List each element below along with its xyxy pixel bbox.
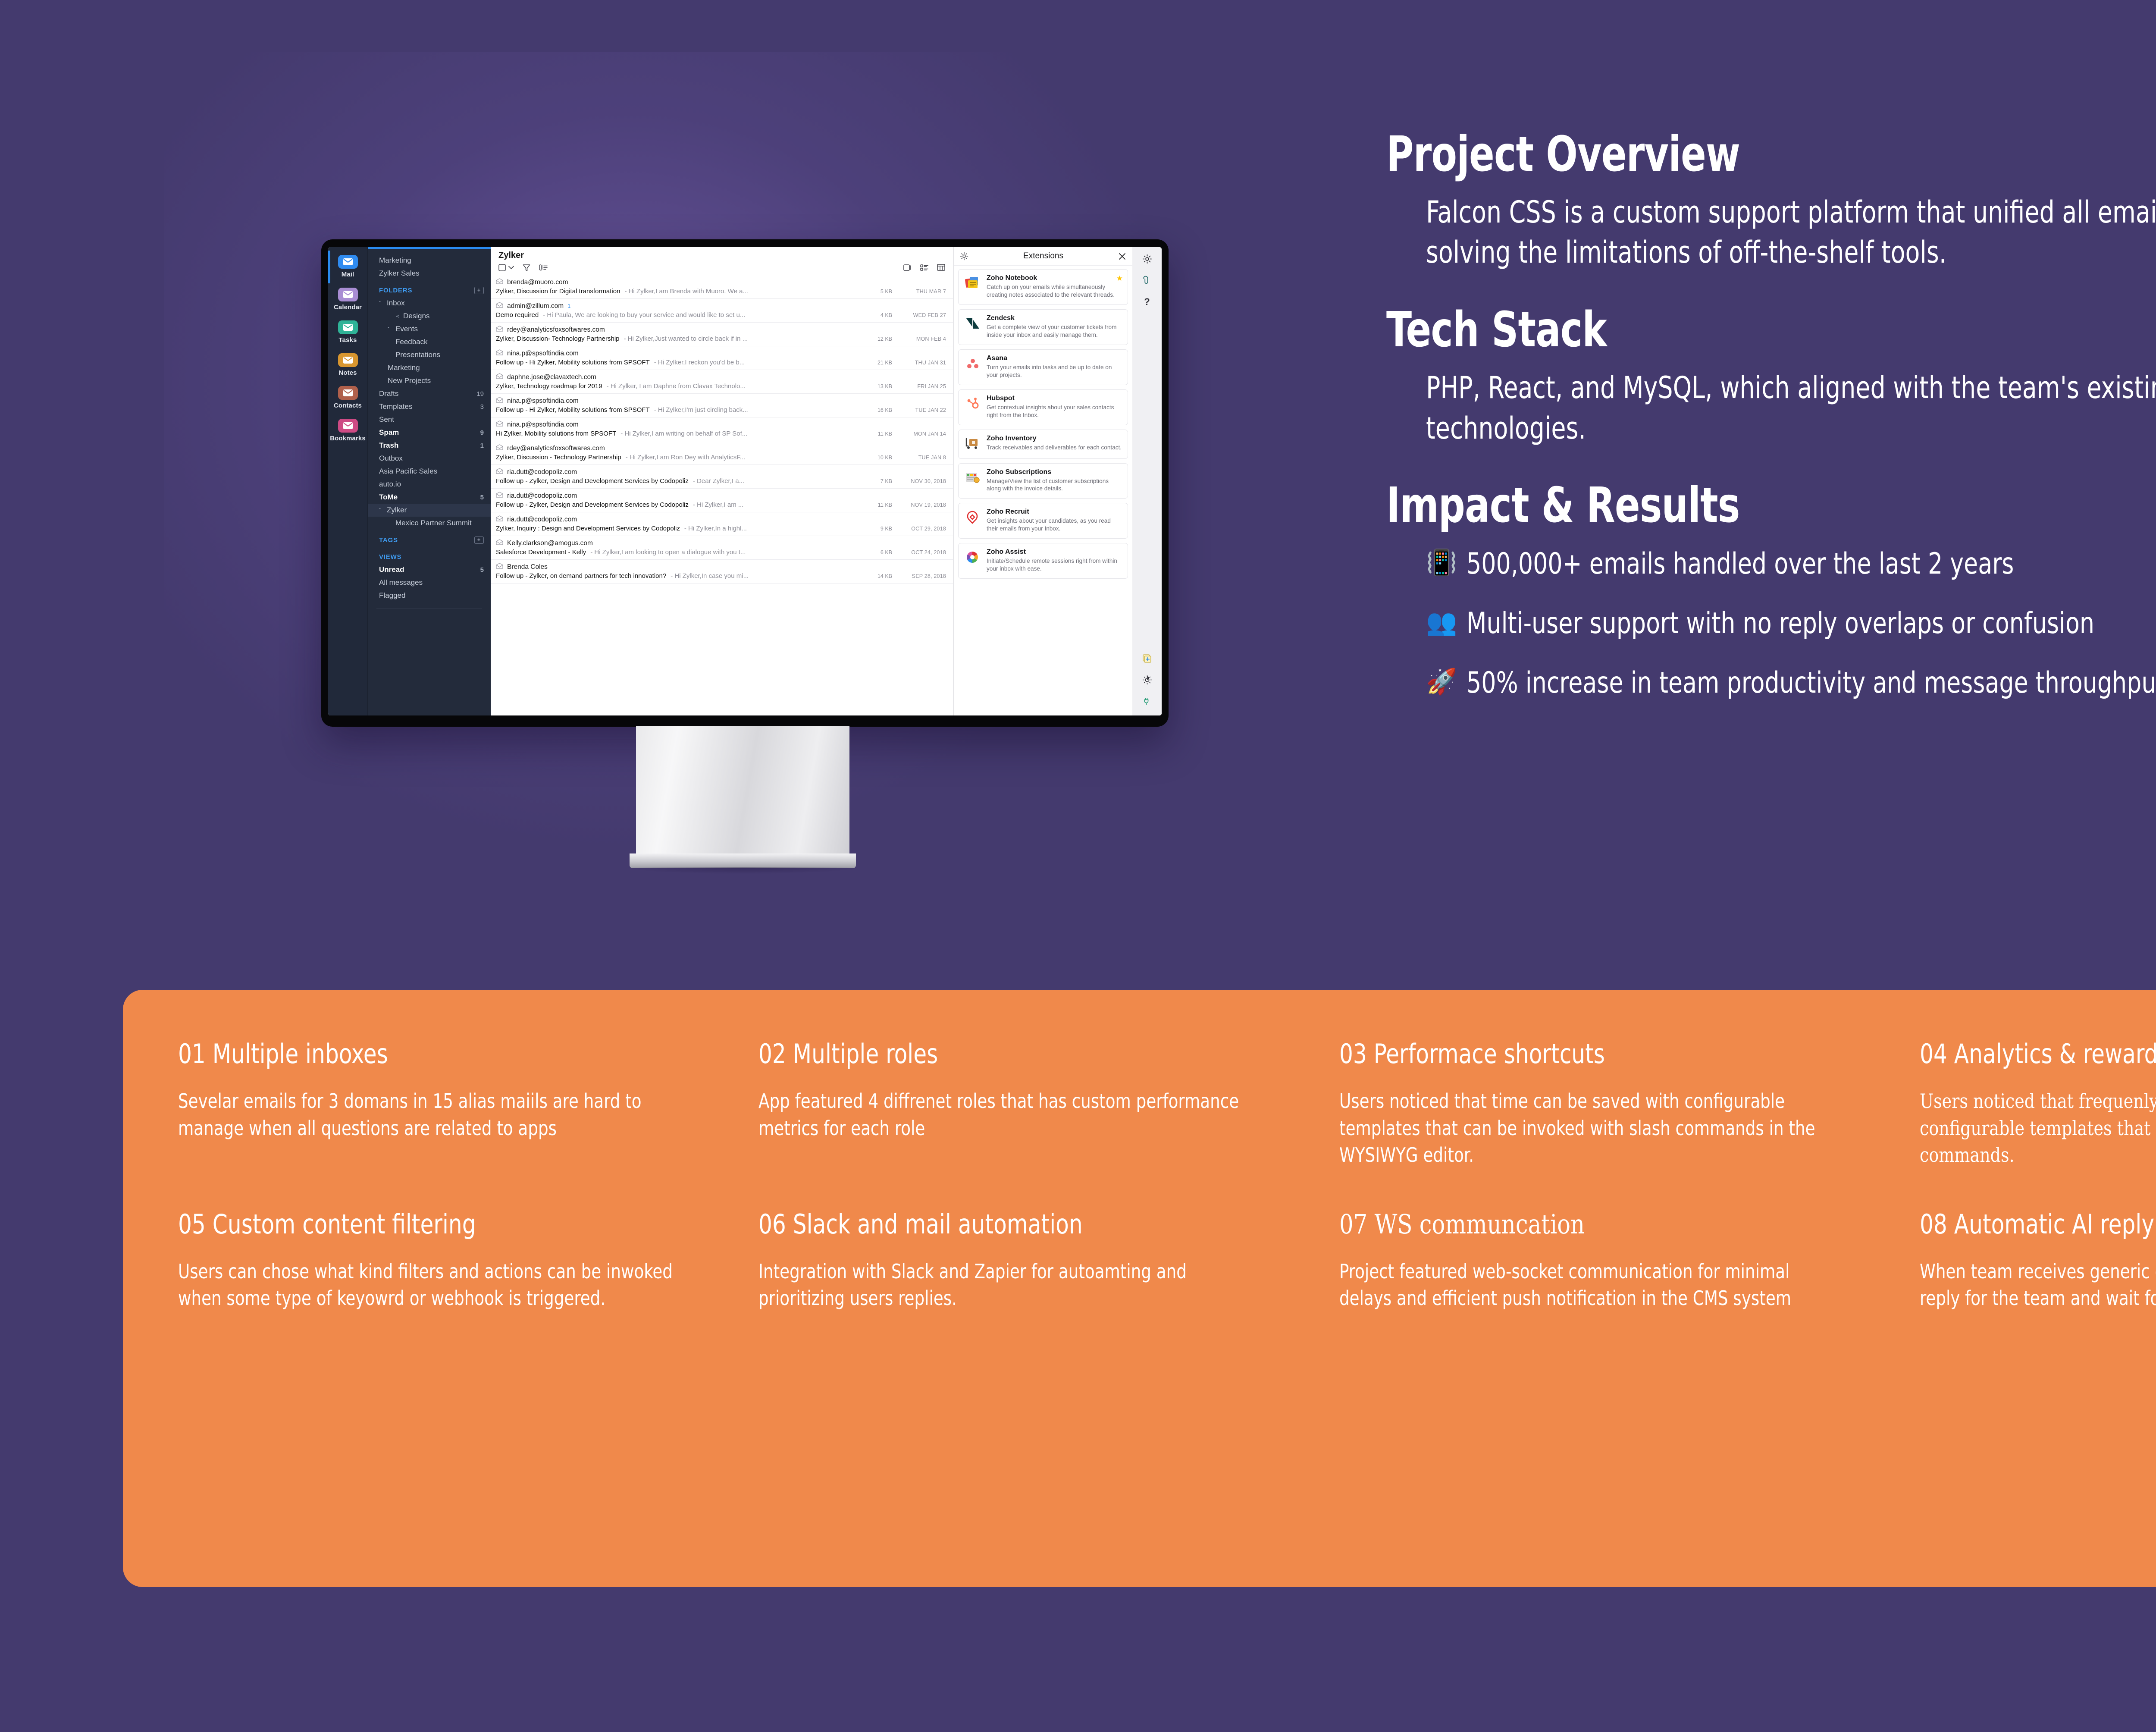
folder-item-count: 19 [476, 390, 484, 398]
message-preview: - Hi Zylker, I am Daphne from Clavax Tec… [607, 383, 863, 390]
extension-name: Zoho Inventory [987, 435, 1122, 442]
message-preview: - Hi Zylker,I am Brenda with Muoro. We a… [624, 288, 863, 295]
impact-bullet: 📳 500,000+ emails handled over the last … [1426, 548, 2156, 580]
folder-item-new-projects[interactable]: New Projects [368, 374, 491, 387]
envelope-icon [496, 468, 503, 476]
extension-card[interactable]: Zoho Recruit Get insights about your can… [958, 503, 1128, 539]
message-date: NOV 30, 2018 [896, 478, 946, 484]
folder-item-marketing[interactable]: Marketing [368, 254, 491, 267]
brightness-icon[interactable] [1142, 675, 1152, 685]
chevron-down-icon[interactable] [508, 266, 514, 270]
extension-description: Get contextual insights about your sales… [987, 404, 1122, 419]
message-preview: - Hi Zylker,I am looking to open a dialo… [590, 549, 863, 556]
tech-stack-heading: Tech Stack [1386, 305, 2156, 356]
message-row[interactable]: brenda@muoro.com Zylker, Discussion for … [491, 275, 953, 299]
feature-body: Users can chose what kind filters and ac… [178, 1258, 674, 1312]
impact-bullet: 🚀 50% increase in team productivity and … [1426, 667, 2156, 700]
extension-description: Initiate/Schedule remote sessions right … [987, 557, 1122, 573]
rail-item-label: Contacts [328, 402, 367, 409]
feature-title: 01 Multiple inboxes [178, 1040, 674, 1068]
mail-icon [338, 255, 358, 269]
tasks-icon [338, 320, 358, 334]
message-size: 6 KB [867, 549, 892, 555]
rail-item-label: Bookmarks [328, 435, 367, 442]
message-row[interactable]: ria.dutt@codopoliz.com Zylker, Inquiry :… [491, 512, 953, 536]
extension-card[interactable]: Zoho Inventory Track receivables and del… [958, 430, 1128, 459]
feature-body: App featured 4 diffrenet roles that has … [758, 1088, 1254, 1142]
message-subject: Zylker, Technology roadmap for 2019 [496, 383, 602, 390]
message-date: TUE JAN 22 [896, 407, 946, 413]
tags-header-label: TAGS [379, 537, 398, 544]
rail-item-label: Tasks [328, 336, 367, 344]
rail-item-mail[interactable]: Mail [328, 251, 367, 283]
message-date: OCT 24, 2018 [896, 549, 946, 555]
feature-card-04: 04 Analytics & reward system Users notic… [1920, 1040, 2156, 1169]
envelope-icon [496, 563, 503, 571]
feature-body: Project featured web-socket communicatio… [1339, 1258, 1835, 1312]
notes-icon [338, 353, 358, 367]
message-size: 14 KB [867, 573, 892, 579]
message-subject: Follow up - Zylker, Design and Developme… [496, 501, 689, 508]
monitor-bezel: Mail Calendar Tasks Notes Contacts Bookm… [321, 239, 1169, 727]
gear-icon[interactable] [960, 252, 968, 260]
zoho-inventory-icon [964, 435, 982, 453]
folder-item-count: 9 [480, 429, 484, 436]
rail-item-label: Mail [328, 271, 367, 278]
section-tech-stack: Tech Stack PHP, React, and MySQL, which … [1386, 305, 2156, 449]
feature-card-02: 02 Multiple roles App featured 4 diffren… [758, 1040, 1315, 1169]
folder-item-auto-io[interactable]: auto.io [368, 478, 491, 491]
message-subject: Hi Zylker, Mobility solutions from SPSOF… [496, 430, 616, 437]
message-date: THU MAR 7 [896, 289, 946, 295]
zoho-subscriptions-icon [964, 468, 982, 486]
envelope-icon [496, 420, 503, 429]
extensions-list[interactable]: Zoho Notebook Catch up on your emails wh… [954, 266, 1132, 715]
impact-bullet-text: Multi-user support with no reply overlap… [1467, 607, 2094, 640]
envelope-icon [496, 444, 503, 452]
rocket-icon: 🚀 [1426, 667, 1457, 697]
plugin-icon[interactable] [1142, 696, 1152, 706]
extension-description: Turn your emails into tasks and be up to… [987, 364, 1122, 379]
message-sender: brenda@muoro.com [507, 279, 568, 286]
message-subject: Zylker, Discussion for Digital transform… [496, 288, 620, 295]
envelope-icon [496, 539, 503, 547]
message-row[interactable]: Brenda Coles Follow up - Zylker, on dema… [491, 560, 953, 584]
impact-bullet-text: 500,000+ emails handled over the last 2 … [1467, 548, 2014, 580]
message-subject: Zylker, Discussion - Technology Partners… [496, 454, 621, 461]
folder-item-label: Events [395, 325, 418, 333]
extension-name: Zoho Assist [987, 548, 1122, 556]
star-icon[interactable]: ★ [1116, 274, 1123, 283]
folder-item-label: Sent [379, 415, 394, 424]
email-stats-icon: 📳 [1426, 548, 1457, 578]
feature-title: 04 Analytics & reward system [1920, 1040, 2156, 1068]
message-list-pane: Zylker [491, 247, 953, 715]
multi-user-icon: 👥 [1426, 607, 1457, 637]
message-row[interactable]: Kelly.clarkson@amogus.com Salesforce Dev… [491, 536, 953, 560]
add-note-icon[interactable] [1142, 654, 1152, 664]
rail-item-tasks[interactable]: Tasks [328, 316, 367, 349]
folder-item-label: Drafts [379, 389, 398, 398]
message-list-title: Zylker [498, 251, 945, 260]
message-preview: - Hi Zylker,I am writing on behalf of SP… [620, 430, 863, 437]
rail-item-notes[interactable]: Notes [328, 349, 367, 382]
monitor: Mail Calendar Tasks Notes Contacts Bookm… [321, 239, 1169, 727]
feature-body: Sevelar emails for 3 domans in 15 alias … [178, 1088, 674, 1142]
folder-item-count: 3 [480, 403, 484, 411]
rail-item-contacts[interactable]: Contacts [328, 382, 367, 414]
impact-bullet: 👥 Multi-user support with no reply overl… [1426, 607, 2156, 640]
zoho-assist-icon [964, 548, 982, 566]
feature-title: 08 Automatic AI reply [1920, 1210, 2156, 1238]
message-date: TUE JAN 8 [896, 455, 946, 461]
extension-name: Hubspot [987, 395, 1122, 402]
chevron-down-icon: ≺ [395, 313, 401, 319]
feature-body: When team receives generic question AI c… [1920, 1258, 2156, 1312]
extension-description: Manage/View the list of customer subscri… [987, 477, 1122, 493]
message-sender: ria.dutt@codopoliz.com [507, 492, 577, 500]
extension-name: Zoho Recruit [987, 508, 1122, 516]
folder-item-label: Templates [379, 402, 412, 411]
message-size: 11 KB [867, 431, 892, 437]
monitor-stand-neck [636, 726, 849, 855]
folder-item-spam[interactable]: Spam9 [368, 426, 491, 439]
envelope-icon [496, 373, 503, 381]
message-subject: Demo required [496, 311, 539, 319]
folder-item-events[interactable]: ˇEvents [368, 323, 491, 336]
message-preview: - Hi Paula, We are looking to buy your s… [543, 311, 863, 319]
message-sender: nina.p@spsoftindia.com [507, 350, 579, 358]
feature-body: Integration with Slack and Zapier for au… [758, 1258, 1254, 1312]
impact-bullet-list: 📳 500,000+ emails handled over the last … [1426, 548, 2156, 700]
folder-item-label: Designs [403, 312, 429, 320]
help-icon[interactable]: ? [1144, 296, 1150, 307]
folder-item-label: Spam [379, 428, 399, 437]
paperclip-icon[interactable] [1142, 275, 1152, 285]
tech-stack-body: PHP, React, and MySQL, which aligned wit… [1426, 368, 2156, 449]
message-list-header: Zylker [491, 247, 953, 275]
zoho-recruit-icon [964, 508, 982, 526]
extension-name: Zoho Subscriptions [987, 468, 1122, 476]
feature-card-06: 06 Slack and mail automation Integration… [758, 1210, 1315, 1312]
rail-item-label: Notes [328, 369, 367, 377]
message-size: 12 KB [867, 336, 892, 342]
folder-item-trash[interactable]: Trash1 [368, 439, 491, 452]
message-sender: nina.p@spsoftindia.com [507, 421, 579, 429]
folder-item-designs[interactable]: ≺Designs [368, 310, 491, 323]
feature-title: 02 Multiple roles [758, 1040, 1254, 1068]
chevron-down-icon: ˇ [379, 507, 384, 513]
message-size: 21 KB [867, 360, 892, 366]
message-sender: rdey@analyticsfoxsoftwares.com [507, 445, 605, 452]
message-sender: daphne.jose@clavaxtech.com [507, 373, 596, 381]
message-date: THU JAN 31 [896, 360, 946, 366]
extension-description: Get a complete view of your customer tic… [987, 323, 1122, 339]
impact-results-heading: Impact & Results [1386, 480, 2156, 531]
folder-item-drafts[interactable]: Drafts19 [368, 387, 491, 400]
feature-title: 06 Slack and mail automation [758, 1210, 1254, 1238]
rail-item-bookmarks[interactable]: Bookmarks [328, 414, 367, 447]
extensions-rail[interactable]: ? [1132, 247, 1162, 715]
message-date: MON JAN 14 [896, 431, 946, 437]
message-size: 16 KB [867, 407, 892, 413]
select-all-checkbox[interactable] [498, 264, 506, 271]
rail-item-label: Calendar [328, 304, 367, 311]
folder-item-label: All messages [379, 578, 423, 587]
chevron-down-icon: ˇ [379, 300, 384, 306]
extensions-title: Extensions [968, 251, 1118, 261]
message-date: SEP 28, 2018 [896, 573, 946, 579]
folder-item-label: Zylker [387, 506, 407, 515]
folder-item-zylker-sales[interactable]: Zylker Sales [368, 267, 491, 280]
tags-section-header: TAGS + [368, 530, 491, 546]
message-row[interactable]: ria.dutt@codopoliz.com Follow up - Zylke… [491, 489, 953, 512]
extension-card[interactable]: Zoho Subscriptions Manage/View the list … [958, 463, 1128, 499]
feature-card-07: 07 WS communcation Project featured web-… [1339, 1210, 1896, 1312]
folder-item-unread[interactable]: Unread5 [368, 563, 491, 576]
message-preview: - Dear Zylker,I a... [693, 477, 863, 485]
extensions-panel: Extensions Zoho Notebook Catch up on you… [953, 247, 1132, 715]
calendar-icon [338, 288, 358, 301]
add-folder-button[interactable]: + [474, 287, 484, 294]
folder-item-flagged[interactable]: Flagged [368, 589, 491, 602]
feature-card-08: 08 Automatic AI reply When team receives… [1920, 1210, 2156, 1312]
message-rows[interactable]: brenda@muoro.com Zylker, Discussion for … [491, 275, 953, 715]
message-preview: - Hi Zylker,I reckon you'd be b... [654, 359, 863, 366]
folder-item-inbox[interactable]: ˇInbox [368, 297, 491, 310]
bookmarks-icon [338, 419, 358, 433]
folder-item-label: Marketing [379, 256, 411, 265]
folder-item-marketing[interactable]: Marketing [368, 361, 491, 374]
message-subject: Zylker, Discussion- Technology Partnersh… [496, 335, 620, 342]
message-sender: rdey@analyticsfoxsoftwares.com [507, 326, 605, 334]
folders-pane[interactable]: MarketingZylker Sales FOLDERS + ˇInbox≺D… [368, 247, 491, 715]
chevron-down-icon: ˇ [388, 326, 393, 332]
message-subject: Follow up - Hi Zylker, Mobility solution… [496, 406, 650, 414]
feature-body: Users noticed that time can be saved wit… [1339, 1088, 1835, 1169]
folder-item-count: 5 [480, 566, 484, 574]
folder-item-feedback[interactable]: Feedback [368, 336, 491, 348]
feature-card-01: 01 Multiple inboxes Sevelar emails for 3… [178, 1040, 734, 1169]
asana-icon [964, 355, 982, 373]
message-size: 10 KB [867, 455, 892, 461]
message-subject: Zylker, Inquiry : Design and Development… [496, 525, 680, 532]
envelope-icon [496, 278, 503, 286]
extension-card[interactable]: Zendesk Get a complete view of your cust… [958, 309, 1128, 345]
message-size: 5 KB [867, 289, 892, 295]
pane-accent-bar [368, 247, 491, 249]
message-sender: Kelly.clarkson@amogus.com [507, 540, 593, 547]
envelope-icon [496, 492, 503, 500]
filter-icon[interactable] [523, 264, 530, 272]
extensions-header: Extensions [954, 247, 1132, 266]
message-sender: Brenda Coles [507, 563, 548, 571]
folder-item-label: Asia Pacific Sales [379, 467, 437, 476]
folder-item-label: ToMe [379, 493, 398, 502]
folder-item-label: auto.io [379, 480, 401, 489]
envelope-icon [496, 302, 503, 310]
views-header-label: VIEWS [379, 553, 401, 561]
message-row[interactable]: rdey@analyticsfoxsoftwares.com Zylker, D… [491, 441, 953, 465]
message-row[interactable]: nina.p@spsoftindia.com Follow up - Hi Zy… [491, 394, 953, 417]
folder-item-outbox[interactable]: Outbox [368, 452, 491, 465]
app-screen: Mail Calendar Tasks Notes Contacts Bookm… [328, 247, 1162, 715]
feature-title: 07 WS communcation [1339, 1210, 1846, 1238]
message-sender: nina.p@spsoftindia.com [507, 397, 579, 405]
message-subject: Follow up - Zylker, Design and Developme… [496, 477, 689, 485]
copy-column: Project Overview Falcon CSS is a custom … [1386, 129, 2156, 731]
app-rail[interactable]: Mail Calendar Tasks Notes Contacts Bookm… [328, 247, 368, 715]
message-subject: Follow up - Zylker, on demand partners f… [496, 572, 666, 580]
attachment-sort-icon[interactable] [539, 264, 548, 272]
extension-description: Catch up on your emails while simultaneo… [987, 283, 1122, 299]
project-overview-body: Falcon CSS is a custom support platform … [1426, 192, 2156, 273]
message-size: 7 KB [867, 478, 892, 484]
zoho-notebook-icon [964, 274, 982, 292]
column-view-icon[interactable] [937, 264, 945, 272]
message-date: WED FEB 27 [896, 312, 946, 318]
message-row[interactable]: admin@zillum.com 1 Demo required - Hi Pa… [491, 299, 953, 323]
envelope-icon [496, 515, 503, 524]
envelope-icon [496, 349, 503, 358]
folder-item-label: Feedback [395, 338, 428, 346]
message-sender: admin@zillum.com [507, 302, 564, 310]
message-preview: - Hi Zylker,In a highl... [684, 525, 863, 532]
folder-item-label: New Projects [388, 377, 431, 385]
folder-item-label: Flagged [379, 591, 405, 600]
extension-description: Get insights about your candidates, as y… [987, 517, 1122, 533]
message-size: 13 KB [867, 383, 892, 389]
message-preview: - Hi Zylker,In case you mi... [671, 572, 863, 580]
message-preview: - Hi Zylker,I'm just circling back... [654, 406, 863, 414]
feature-body: Users noticed that frequenly time can be… [1920, 1088, 2156, 1169]
message-date: MON FEB 4 [896, 336, 946, 342]
feature-card-05: 05 Custom content filtering Users can ch… [178, 1210, 734, 1312]
folder-item-label: Mexico Partner Summit [395, 519, 472, 527]
feature-title: 03 Performace shortcuts [1339, 1040, 1835, 1068]
message-date: OCT 29, 2018 [896, 526, 946, 532]
extension-card[interactable]: Zoho Assist Initiate/Schedule remote ses… [958, 543, 1128, 579]
message-list-toolbar[interactable] [498, 260, 945, 275]
folders-header-label: FOLDERS [379, 287, 412, 294]
folder-item-tome[interactable]: ToMe5 [368, 491, 491, 504]
section-impact-results: Impact & Results 📳 500,000+ emails handl… [1386, 480, 2156, 700]
message-row[interactable]: ria.dutt@codopoliz.com Follow up - Zylke… [491, 465, 953, 489]
features-panel: 01 Multiple inboxes Sevelar emails for 3… [123, 990, 2156, 1587]
impact-bullet-text: 50% increase in team productivity and me… [1467, 667, 2156, 700]
folder-item-count: 5 [480, 494, 484, 501]
message-sender: ria.dutt@codopoliz.com [507, 468, 577, 476]
folder-item-label: Unread [379, 565, 404, 574]
message-date: NOV 19, 2018 [896, 502, 946, 508]
extension-name: Zoho Notebook [987, 274, 1122, 282]
message-row[interactable]: nina.p@spsoftindia.com Hi Zylker, Mobili… [491, 417, 953, 441]
feature-card-03: 03 Performace shortcuts Users noticed th… [1339, 1040, 1896, 1169]
message-row[interactable]: nina.p@spsoftindia.com Follow up - Hi Zy… [491, 346, 953, 370]
folder-item-count: 1 [480, 442, 484, 449]
contacts-icon [338, 386, 358, 400]
folder-item-label: Outbox [379, 454, 403, 463]
folder-item-zylker[interactable]: ˇZylker [368, 504, 491, 517]
rail-item-calendar[interactable]: Calendar [328, 283, 367, 316]
folder-item-label: Marketing [388, 364, 420, 372]
extension-name: Zendesk [987, 314, 1122, 322]
envelope-icon [496, 397, 503, 405]
features-grid: 01 Multiple inboxes Sevelar emails for 3… [178, 1040, 2156, 1312]
close-icon[interactable] [1118, 252, 1126, 260]
message-size: 9 KB [867, 526, 892, 532]
hubspot-icon [964, 395, 982, 413]
reading-pane-icon[interactable] [903, 264, 912, 272]
folder-item-all-messages[interactable]: All messages [368, 576, 491, 589]
extension-description: Track receivables and deliverables for e… [987, 444, 1122, 452]
feature-title: 05 Custom content filtering [178, 1210, 674, 1238]
extension-name: Asana [987, 355, 1122, 362]
section-project-overview: Project Overview Falcon CSS is a custom … [1386, 129, 2156, 273]
extension-card[interactable]: Asana Turn your emails into tasks and be… [958, 349, 1128, 385]
thread-count: 1 [567, 303, 570, 309]
folder-item-mexico-partner-summit[interactable]: Mexico Partner Summit [368, 517, 491, 530]
folder-item-label: Trash [379, 441, 398, 450]
folder-item-presentations[interactable]: Presentations [368, 348, 491, 361]
folders-section-header: FOLDERS + [368, 280, 491, 297]
folder-item-asia-pacific-sales[interactable]: Asia Pacific Sales [368, 465, 491, 478]
message-sender: ria.dutt@codopoliz.com [507, 516, 577, 524]
gear-icon[interactable] [1142, 254, 1152, 264]
folders-divider [376, 608, 482, 609]
folder-item-templates[interactable]: Templates3 [368, 400, 491, 413]
monitor-stand-shadow [623, 867, 862, 874]
project-overview-heading: Project Overview [1386, 129, 2156, 180]
extension-card[interactable]: Zoho Notebook Catch up on your emails wh… [958, 269, 1128, 305]
message-row[interactable]: daphne.jose@clavaxtech.com Zylker, Techn… [491, 370, 953, 394]
add-tag-button[interactable]: + [474, 537, 484, 544]
monitor-stand-foot [630, 853, 856, 868]
envelope-icon [496, 326, 503, 334]
message-subject: Follow up - Hi Zylker, Mobility solution… [496, 359, 650, 366]
folder-item-label: Zylker Sales [379, 269, 420, 278]
views-section-header: VIEWS [368, 546, 491, 563]
message-preview: - Hi Zylker,I am ... [693, 501, 863, 508]
message-preview: - Hi Zylker,Just wanted to circle back i… [624, 335, 863, 342]
list-view-icon[interactable] [920, 264, 928, 272]
folder-item-label: Inbox [387, 299, 405, 307]
message-row[interactable]: rdey@analyticsfoxsoftwares.com Zylker, D… [491, 323, 953, 346]
folder-item-label: Presentations [395, 351, 440, 359]
zendesk-icon [964, 314, 982, 333]
message-preview: - Hi Zylker,I am Ron Dey with AnalyticsF… [626, 454, 863, 461]
message-size: 4 KB [867, 312, 892, 318]
message-size: 11 KB [867, 502, 892, 508]
extension-card[interactable]: Hubspot Get contextual insights about yo… [958, 389, 1128, 425]
message-date: FRI JAN 25 [896, 383, 946, 389]
message-subject: Salesforce Development - Kelly [496, 549, 586, 556]
folder-item-sent[interactable]: Sent [368, 413, 491, 426]
